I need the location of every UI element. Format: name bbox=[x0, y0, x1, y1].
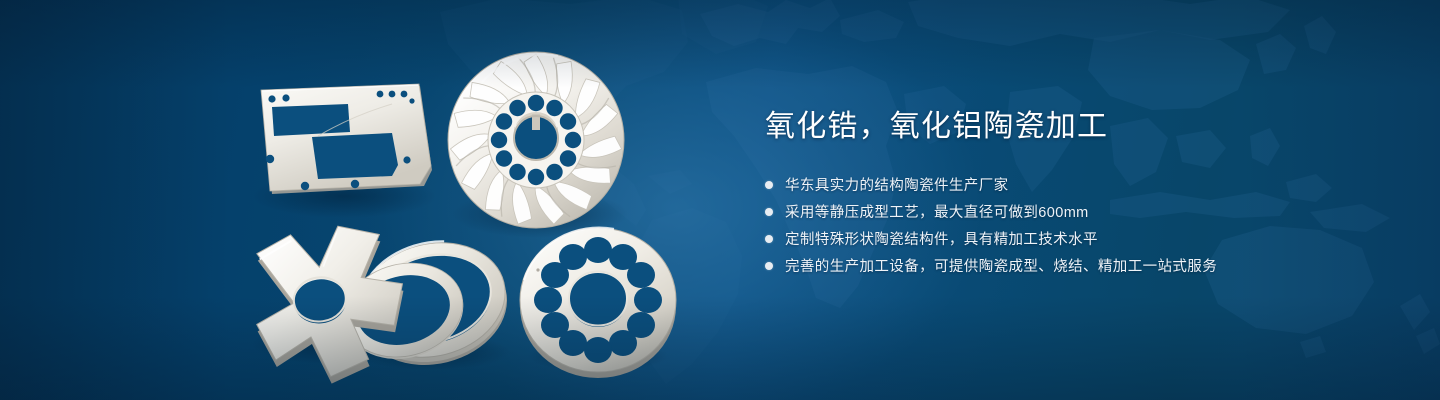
bullet-dot-icon bbox=[765, 181, 773, 189]
feature-item: 华东具实力的结构陶瓷件生产厂家 bbox=[765, 174, 1385, 196]
feature-label: 华东具实力的结构陶瓷件生产厂家 bbox=[785, 174, 1009, 195]
feature-item: 完善的生产加工设备，可提供陶瓷成型、烧结、精加工一站式服务 bbox=[765, 255, 1385, 277]
bullet-dot-icon bbox=[765, 208, 773, 216]
feature-label: 完善的生产加工设备，可提供陶瓷成型、烧结、精加工一站式服务 bbox=[785, 255, 1217, 276]
feature-label: 采用等静压成型工艺，最大直径可做到600mm bbox=[785, 201, 1089, 222]
banner-headline: 氧化锆，氧化铝陶瓷加工 bbox=[765, 108, 1385, 146]
feature-item: 定制特殊形状陶瓷结构件，具有精加工技术水平 bbox=[765, 228, 1385, 250]
bullet-dot-icon bbox=[765, 235, 773, 243]
hero-banner: 氧化锆，氧化铝陶瓷加工 华东具实力的结构陶瓷件生产厂家 采用等静压成型工艺，最大… bbox=[0, 0, 1440, 400]
banner-feature-list: 华东具实力的结构陶瓷件生产厂家 采用等静压成型工艺，最大直径可做到600mm 定… bbox=[765, 174, 1385, 277]
feature-label: 定制特殊形状陶瓷结构件，具有精加工技术水平 bbox=[785, 228, 1098, 249]
bullet-dot-icon bbox=[765, 262, 773, 270]
banner-text-block: 氧化锆，氧化铝陶瓷加工 华东具实力的结构陶瓷件生产厂家 采用等静压成型工艺，最大… bbox=[765, 108, 1385, 282]
feature-item: 采用等静压成型工艺，最大直径可做到600mm bbox=[765, 201, 1385, 223]
